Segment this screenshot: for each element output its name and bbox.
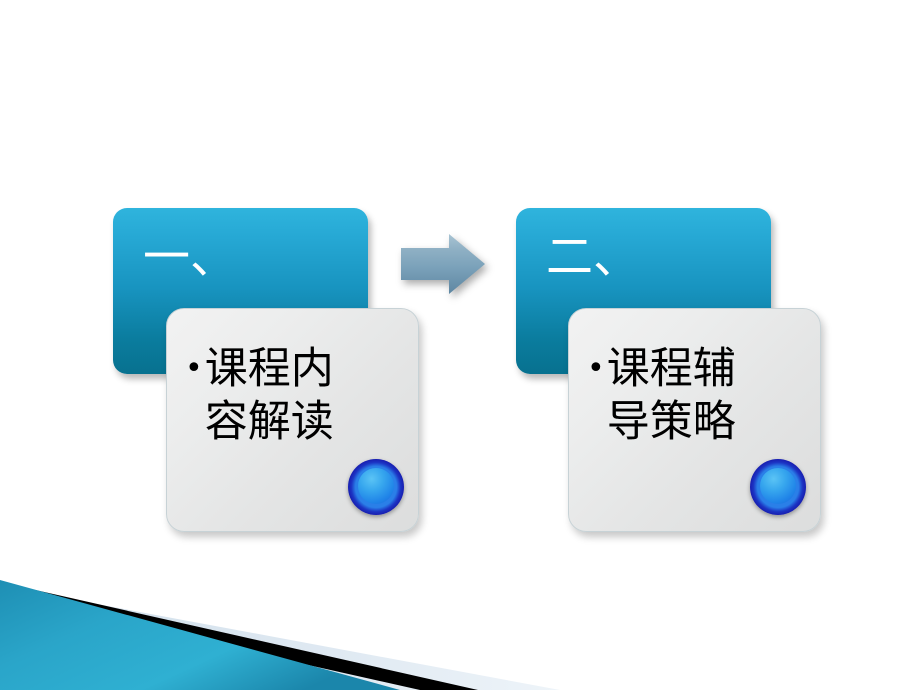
step-1-text-line-1: 课程内 [205, 344, 334, 394]
step-2-text-line-2: 导策略 [607, 397, 736, 447]
step-1-content-body: • 课程内容解读 [185, 343, 404, 449]
step-1-text-line-2: 容解读 [205, 397, 334, 447]
step-2-text-line-1: 课程辅 [607, 344, 736, 394]
footer-decoration [0, 560, 920, 690]
step-1-number-label: 一、 [143, 234, 237, 281]
step-1-content-card[interactable]: • 课程内容解读 [166, 308, 419, 532]
step-2-text: 课程辅导策略 [607, 343, 736, 449]
right-arrow-icon [399, 232, 487, 296]
step-2-bullet: • [587, 343, 605, 395]
footer-teal-triangle [0, 580, 400, 690]
step-1-bullet: • [185, 343, 203, 395]
slide-canvas: 一、 • 课程内容解读 二、 • 课程辅导策略 [0, 0, 920, 690]
step-2-content-card[interactable]: • 课程辅导策略 [568, 308, 821, 532]
step-1-text: 课程内容解读 [205, 343, 334, 449]
footer-black-stripe [0, 582, 478, 690]
step-2-sphere-icon[interactable] [750, 459, 806, 515]
step-1-sphere-icon[interactable] [348, 459, 404, 515]
footer-pale-band [0, 586, 560, 690]
step-2-number-label: 二、 [546, 234, 640, 281]
connector-arrow [399, 232, 487, 296]
step-2-content-body: • 课程辅导策略 [587, 343, 806, 449]
